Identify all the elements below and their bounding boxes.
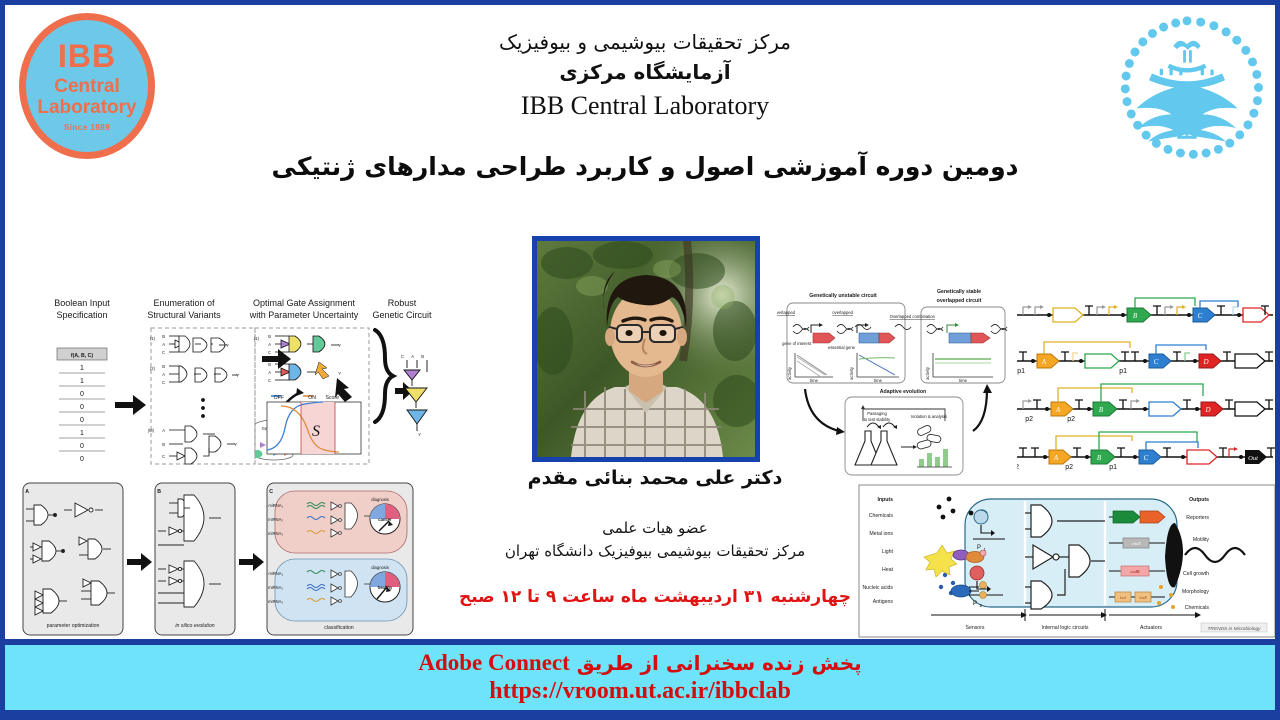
- svg-text:parameter optimization: parameter optimization: [47, 623, 100, 629]
- svg-text:Cell growth: Cell growth: [1183, 571, 1209, 577]
- svg-text:time: time: [810, 378, 819, 383]
- livestream-banner: پخش زنده سخنرانی از طریق Adobe Connect h…: [5, 639, 1275, 715]
- fig2-mirna-3-top: miRNA₃: [268, 531, 283, 536]
- svg-text:activity: activity: [925, 366, 930, 380]
- svg-text:f(A, B, C): f(A, B, C): [71, 353, 93, 359]
- svg-text:diagnosis: diagnosis: [371, 497, 389, 502]
- svg-text:ccdB: ccdB: [1131, 569, 1140, 574]
- svg-text:in silico evolution: in silico evolution: [175, 623, 214, 629]
- svg-text:D: D: [1204, 406, 1210, 414]
- fig2-mirna-1-bot: miRNA₁: [268, 571, 283, 576]
- svg-text:time: time: [874, 378, 883, 383]
- svg-text:A: A: [268, 370, 271, 375]
- svg-text:A: A: [25, 489, 29, 495]
- svg-text:B: B: [1099, 406, 1104, 414]
- fig2-mirna-3-bot: miRNA₃: [268, 599, 283, 604]
- fig5-outputs-title: Outputs: [1189, 497, 1209, 503]
- fig5-stage-3: Actuators: [1140, 625, 1162, 631]
- svg-text:C: C: [269, 489, 273, 495]
- svg-text:Y: Y: [338, 371, 341, 376]
- fig5-inputs-title: Inputs: [877, 497, 893, 503]
- svg-text:A: A: [162, 428, 165, 433]
- svg-text:activity: activity: [787, 366, 792, 380]
- svg-text:Non-overlapped: Non-overlapped: [777, 310, 796, 315]
- svg-text:P: P: [977, 545, 981, 551]
- svg-text:C: C: [162, 380, 165, 385]
- fig1-heading-5: Optimal Gate Assignment: [253, 298, 356, 308]
- fig1-heading-3: Enumeration of: [153, 298, 215, 308]
- svg-text:Y: Y: [234, 442, 237, 447]
- fig1-heading-2: Specification: [56, 310, 107, 320]
- livestream-label-fa: پخش زنده سخنرانی از طریق: [577, 651, 862, 675]
- svg-text:ON: ON: [308, 395, 316, 401]
- svg-text:Adaptive evolution: Adaptive evolution: [880, 389, 926, 395]
- header-line-fa-2: آزمایشگاه مرکزی: [305, 57, 985, 87]
- header-text-block: مرکز تحقیقات بیوشیمی و بیوفیزیک آزمایشگا…: [305, 27, 985, 121]
- svg-text:S: S: [312, 423, 320, 440]
- svg-text:B: B: [1097, 454, 1102, 462]
- svg-text:B: B: [162, 364, 165, 369]
- figure-classifier-circuit-evolution: A paramet: [17, 477, 417, 642]
- svg-text:overlapped: overlapped: [832, 310, 853, 315]
- svg-text:B: B: [268, 362, 271, 367]
- fig1-score-plot: S OFF ON Score: [267, 395, 361, 454]
- svg-text:0: 0: [80, 391, 84, 398]
- fig1-heading-8: Genetic Circuit: [372, 310, 432, 320]
- svg-text:Morphology: Morphology: [1182, 589, 1210, 595]
- svg-text:luxI: luxI: [1120, 595, 1127, 600]
- svg-text:(1): (1): [254, 336, 260, 341]
- svg-text:0: 0: [80, 404, 84, 411]
- svg-text:cheZ: cheZ: [1132, 541, 1141, 546]
- speaker-affiliation: مرکز تحقیقات بیوشیمی بیوفیزیک دانشگاه ته…: [425, 540, 885, 563]
- fig5-stage-2: Internal logic circuits: [1042, 625, 1089, 631]
- svg-text:A: A: [268, 342, 271, 347]
- svg-text:p2: p2: [1025, 416, 1033, 423]
- svg-text:C: C: [1154, 358, 1159, 366]
- svg-text:C: C: [401, 354, 404, 359]
- svg-text:overlapped circuit: overlapped circuit: [937, 298, 982, 304]
- svg-text:C: C: [268, 378, 271, 383]
- svg-text:0: 0: [80, 456, 84, 463]
- svg-text:activity: activity: [849, 366, 854, 380]
- svg-text:A: A: [162, 372, 165, 377]
- svg-text:p1: p1: [1119, 368, 1127, 375]
- figure-cellular-logic-circuit-overview: Inputs Chemicals Metal ions Light Heat N…: [857, 483, 1277, 641]
- fig1-heading-6: with Parameter Uncertainty: [249, 310, 359, 320]
- fig2-mirna-1-top: miRNA₁: [268, 503, 283, 508]
- header-line-fa-1: مرکز تحقیقات بیوشیمی و بیوفیزیک: [305, 27, 985, 57]
- svg-text:C: C: [268, 350, 271, 355]
- fig5-credit: TRENDS in Microbiology: [1207, 626, 1261, 632]
- svg-text:Score: Score: [325, 395, 339, 401]
- svg-text:Y: Y: [226, 343, 229, 348]
- ibb-logo-line-3: Laboratory: [37, 98, 136, 117]
- livestream-url[interactable]: https://vroom.ut.ac.ir/ibbclab: [489, 677, 791, 706]
- livestream-platform: Adobe Connect: [418, 650, 569, 675]
- svg-text:C: C: [162, 454, 165, 459]
- svg-text:Motility: Motility: [1193, 537, 1210, 543]
- svg-text:cancer: cancer: [378, 517, 392, 522]
- svg-text:classification: classification: [324, 625, 354, 631]
- svg-text:p2: p2: [1065, 464, 1073, 471]
- svg-text:time: time: [959, 378, 968, 383]
- livestream-label: پخش زنده سخنرانی از طریق Adobe Connect: [418, 649, 861, 678]
- fig5-stage-1: Sensors: [965, 625, 984, 631]
- svg-text:luxR: luxR: [1139, 595, 1147, 600]
- svg-text:Isolation & analysis: Isolation & analysis: [911, 414, 947, 419]
- svg-text:(M): (M): [148, 428, 155, 433]
- svg-text:A: A: [1053, 454, 1059, 462]
- svg-text:1: 1: [80, 430, 84, 437]
- figure-genetic-circuit-layouts: B C: [1017, 287, 1279, 479]
- speaker-role: عضو هیات علمی: [425, 517, 885, 540]
- svg-text:gene of interest: gene of interest: [782, 341, 812, 346]
- event-date: چهارشنبه ۳۱ اردیبهشت ماه ساعت ۹ تا ۱۲ صب…: [405, 587, 905, 607]
- svg-text:0: 0: [80, 443, 84, 450]
- svg-text:Genetically unstable circuit: Genetically unstable circuit: [809, 293, 877, 299]
- svg-text:Passaging: Passaging: [867, 411, 887, 416]
- svg-text:B: B: [157, 489, 161, 495]
- svg-text:OFF: OFF: [274, 395, 284, 401]
- svg-text:B: B: [162, 442, 165, 447]
- svg-text:p1p2: p1p2: [1017, 464, 1019, 471]
- poster-root: IBB Central Laboratory Since 1989: [0, 0, 1280, 720]
- figure-genetic-circuit-design-workflow: Boolean Input Specification Enumeration …: [19, 260, 439, 470]
- fig1-heading-4: Structural Variants: [147, 310, 221, 320]
- svg-text:(1): (1): [150, 336, 156, 341]
- svg-text:0: 0: [80, 417, 84, 424]
- svg-text:Genetically stable: Genetically stable: [937, 289, 981, 295]
- svg-text:A: A: [162, 342, 165, 347]
- ibb-logo-line-1: IBB: [58, 40, 116, 72]
- fig1-heading-1: Boolean Input: [54, 298, 110, 308]
- header-line-en: IBB Central Laboratory: [305, 91, 985, 121]
- ibb-logo-line-4: Since 1989: [64, 124, 110, 132]
- svg-text:Out: Out: [1248, 455, 1258, 462]
- svg-text:D: D: [1202, 358, 1208, 366]
- svg-text:Y: Y: [418, 432, 421, 437]
- speaker-name: دکتر علی محمد بنائی مقدم: [465, 467, 845, 489]
- svg-text:C: C: [162, 350, 165, 355]
- svg-text:essential gene: essential gene: [828, 345, 856, 350]
- svg-text:1: 1: [80, 378, 84, 385]
- svg-text:B: B: [421, 354, 424, 359]
- svg-text:diagnosis: diagnosis: [371, 565, 389, 570]
- figure-circuit-genetic-stability: Genetically unstable circuit Genetically…: [777, 283, 1015, 479]
- svg-text:P: P: [973, 601, 977, 607]
- page-title: دومین دوره آموزشی اصول و کاربرد طراحی مد…: [165, 152, 1125, 181]
- ibb-logo-line-2: Central: [54, 77, 119, 96]
- svg-text:Chemicals: Chemicals: [1185, 605, 1210, 611]
- svg-text:p1: p1: [1109, 464, 1117, 471]
- svg-text:to test stability: to test stability: [864, 417, 891, 422]
- svg-text:Heat: Heat: [882, 567, 894, 573]
- svg-text:A: A: [1055, 406, 1061, 414]
- svg-text:B: B: [268, 334, 271, 339]
- svg-text:A: A: [1041, 358, 1047, 366]
- svg-text:Y: Y: [338, 343, 341, 348]
- svg-text:p2: p2: [1067, 416, 1075, 423]
- fig2-mirna-2-top: miRNA₂: [268, 517, 283, 522]
- svg-text:Overlapped combination: Overlapped combination: [890, 314, 936, 319]
- fig1-heading-7: Robust: [388, 298, 417, 308]
- svg-text:A: A: [411, 354, 414, 359]
- svg-text:p1: p1: [1017, 368, 1025, 375]
- svg-text:(2): (2): [150, 366, 156, 371]
- ibb-logo: IBB Central Laboratory Since 1989: [19, 13, 155, 159]
- fig2-mirna-2-bot: miRNA₂: [268, 585, 283, 590]
- svg-text:C: C: [1198, 312, 1203, 320]
- university-of-tehran-logo: [1109, 13, 1265, 169]
- svg-text:Reporters: Reporters: [1186, 515, 1209, 521]
- svg-text:1: 1: [80, 365, 84, 372]
- speaker-affiliation-block: عضو هیات علمی مرکز تحقیقات بیوشیمی بیوفی…: [425, 517, 885, 564]
- svg-text:Y: Y: [236, 373, 239, 378]
- svg-text:B: B: [162, 334, 165, 339]
- svg-text:C: C: [1144, 454, 1149, 462]
- svg-text:B: B: [1133, 312, 1138, 320]
- speaker-photo: [532, 236, 760, 462]
